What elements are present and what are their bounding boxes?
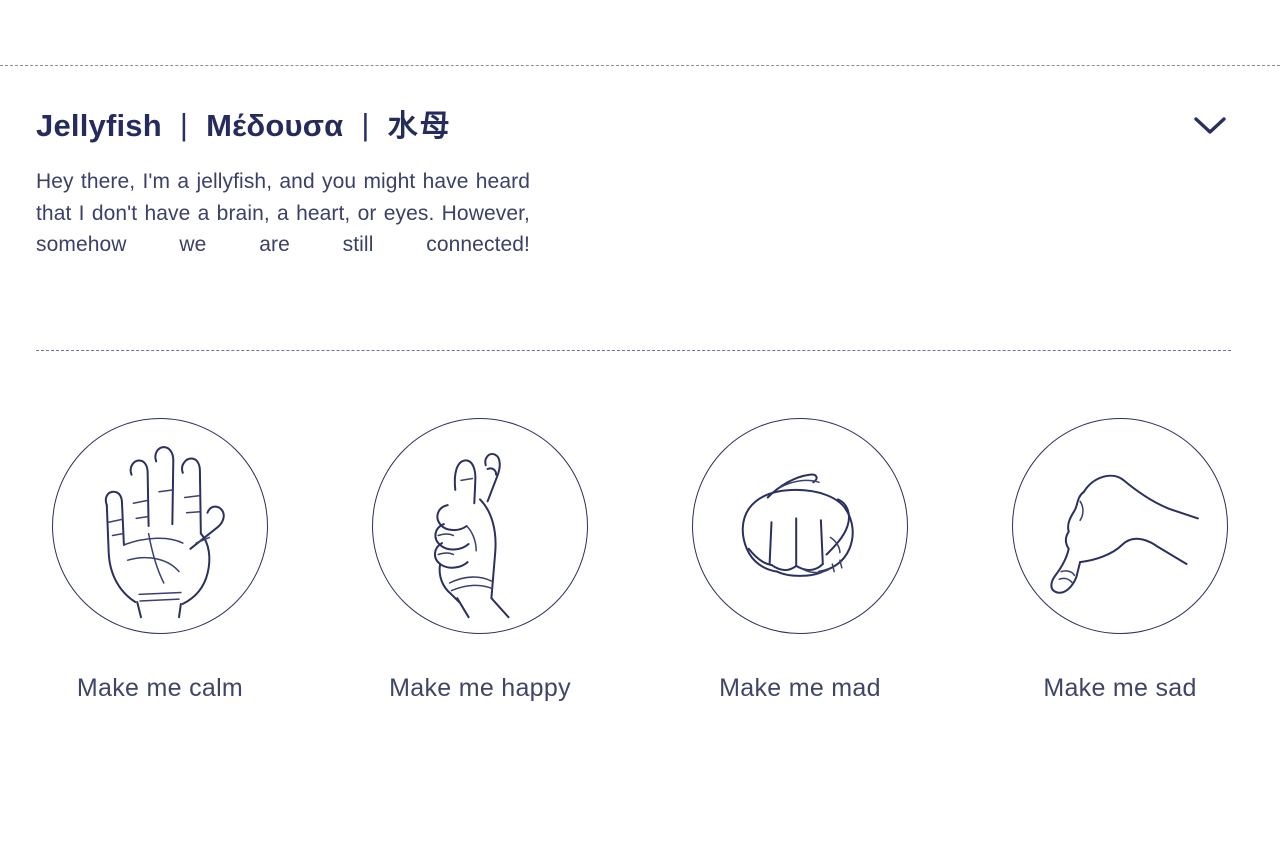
header-row: Jellyfish | Μέδουσα | 水母 (36, 99, 1232, 153)
gesture-card-mad[interactable]: Make me mad (640, 418, 960, 701)
title-english: Jellyfish (36, 110, 162, 141)
page-title: Jellyfish | Μέδουσα | 水母 (36, 110, 452, 142)
thumbs-down-hand-icon (1025, 431, 1215, 621)
collapse-toggle-button[interactable] (1188, 108, 1232, 144)
description-text: Hey there, I'm a jellyfish, and you migh… (36, 166, 530, 292)
gesture-list: Make me calm (0, 418, 1280, 701)
gesture-circle (692, 418, 908, 634)
open-palm-hand-icon (65, 431, 255, 621)
gesture-card-sad[interactable]: Make me sad (960, 418, 1280, 701)
gesture-label: Make me sad (1043, 676, 1196, 701)
gesture-label: Make me calm (77, 676, 243, 701)
page-root: Jellyfish | Μέδουσα | 水母 Hey there, I'm … (0, 0, 1280, 850)
divider-top (0, 65, 1280, 66)
gesture-label: Make me happy (389, 676, 571, 701)
gesture-circle (1012, 418, 1228, 634)
gesture-card-happy[interactable]: Make me happy (320, 418, 640, 701)
fist-hand-icon (705, 431, 895, 621)
gesture-card-calm[interactable]: Make me calm (0, 418, 320, 701)
finger-heart-hand-icon (385, 431, 575, 621)
title-greek: Μέδουσα (206, 110, 343, 141)
title-chinese: 水母 (388, 112, 452, 142)
title-separator-2: | (343, 109, 387, 140)
gesture-label: Make me mad (719, 676, 881, 701)
chevron-down-icon (1190, 113, 1230, 140)
title-separator-1: | (162, 109, 206, 140)
gesture-circle (52, 418, 268, 634)
divider-middle (36, 350, 1231, 351)
gesture-circle (372, 418, 588, 634)
